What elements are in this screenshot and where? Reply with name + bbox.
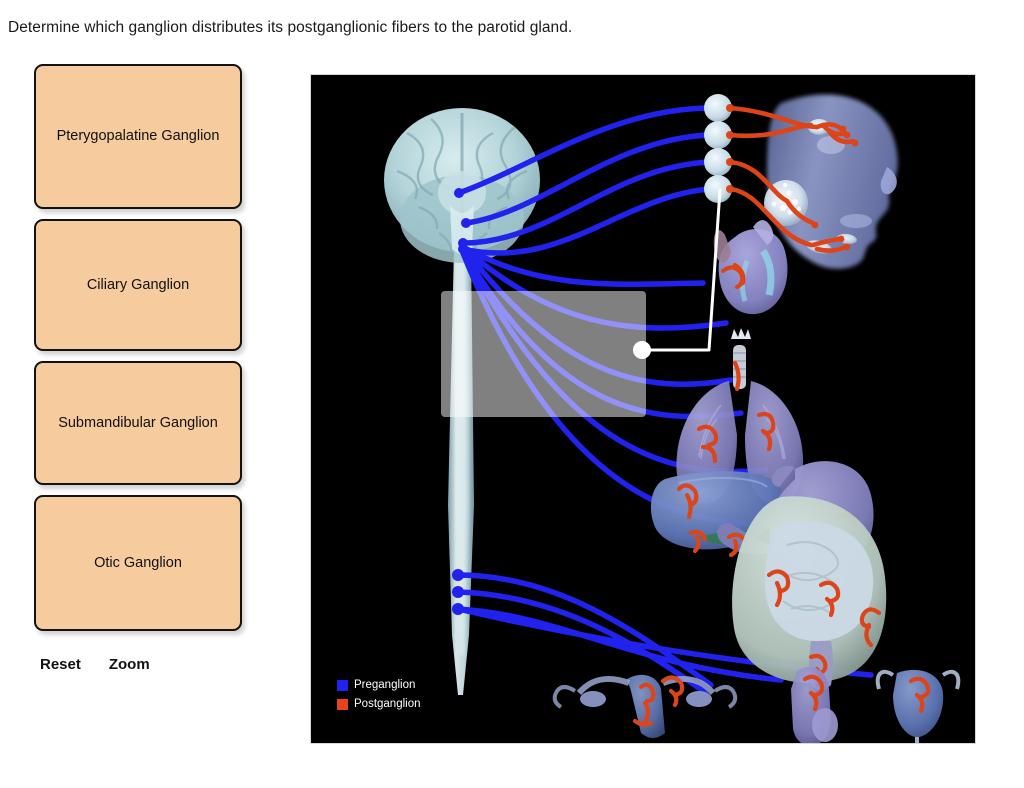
legend-label-preganglion: Preganglion (354, 677, 415, 693)
legend-swatch-postganglion (337, 699, 348, 710)
reset-button[interactable]: Reset (40, 656, 81, 673)
zoom-button[interactable]: Zoom (109, 656, 150, 673)
option-otic-ganglion[interactable]: Otic Ganglion (34, 495, 242, 631)
anatomy-figure-panel[interactable]: Preganglion Postganglion (310, 74, 976, 744)
sacral-origin-dots (452, 569, 464, 615)
option-pterygopalatine-ganglion[interactable]: Pterygopalatine Ganglion (34, 64, 242, 209)
question-prompt: Determine which ganglion distributes its… (8, 18, 572, 38)
answer-drop-target[interactable] (441, 291, 646, 417)
option-label: Submandibular Ganglion (50, 414, 226, 433)
option-label: Otic Ganglion (86, 554, 190, 573)
option-submandibular-ganglion[interactable]: Submandibular Ganglion (34, 361, 242, 485)
intestines (732, 496, 886, 690)
legend-item-postganglion: Postganglion (337, 696, 421, 712)
option-label: Ciliary Ganglion (79, 276, 197, 295)
figure-tool-controls: Reset Zoom (40, 656, 150, 673)
legend-item-preganglion: Preganglion (337, 677, 421, 693)
option-label: Pterygopalatine Ganglion (49, 127, 228, 146)
legend-swatch-preganglion (337, 680, 348, 691)
figure-legend: Preganglion Postganglion (337, 677, 421, 715)
option-ciliary-ganglion[interactable]: Ciliary Ganglion (34, 219, 242, 351)
answer-options-list: Pterygopalatine Ganglion Ciliary Ganglio… (34, 64, 242, 641)
legend-label-postganglion: Postganglion (354, 696, 421, 712)
